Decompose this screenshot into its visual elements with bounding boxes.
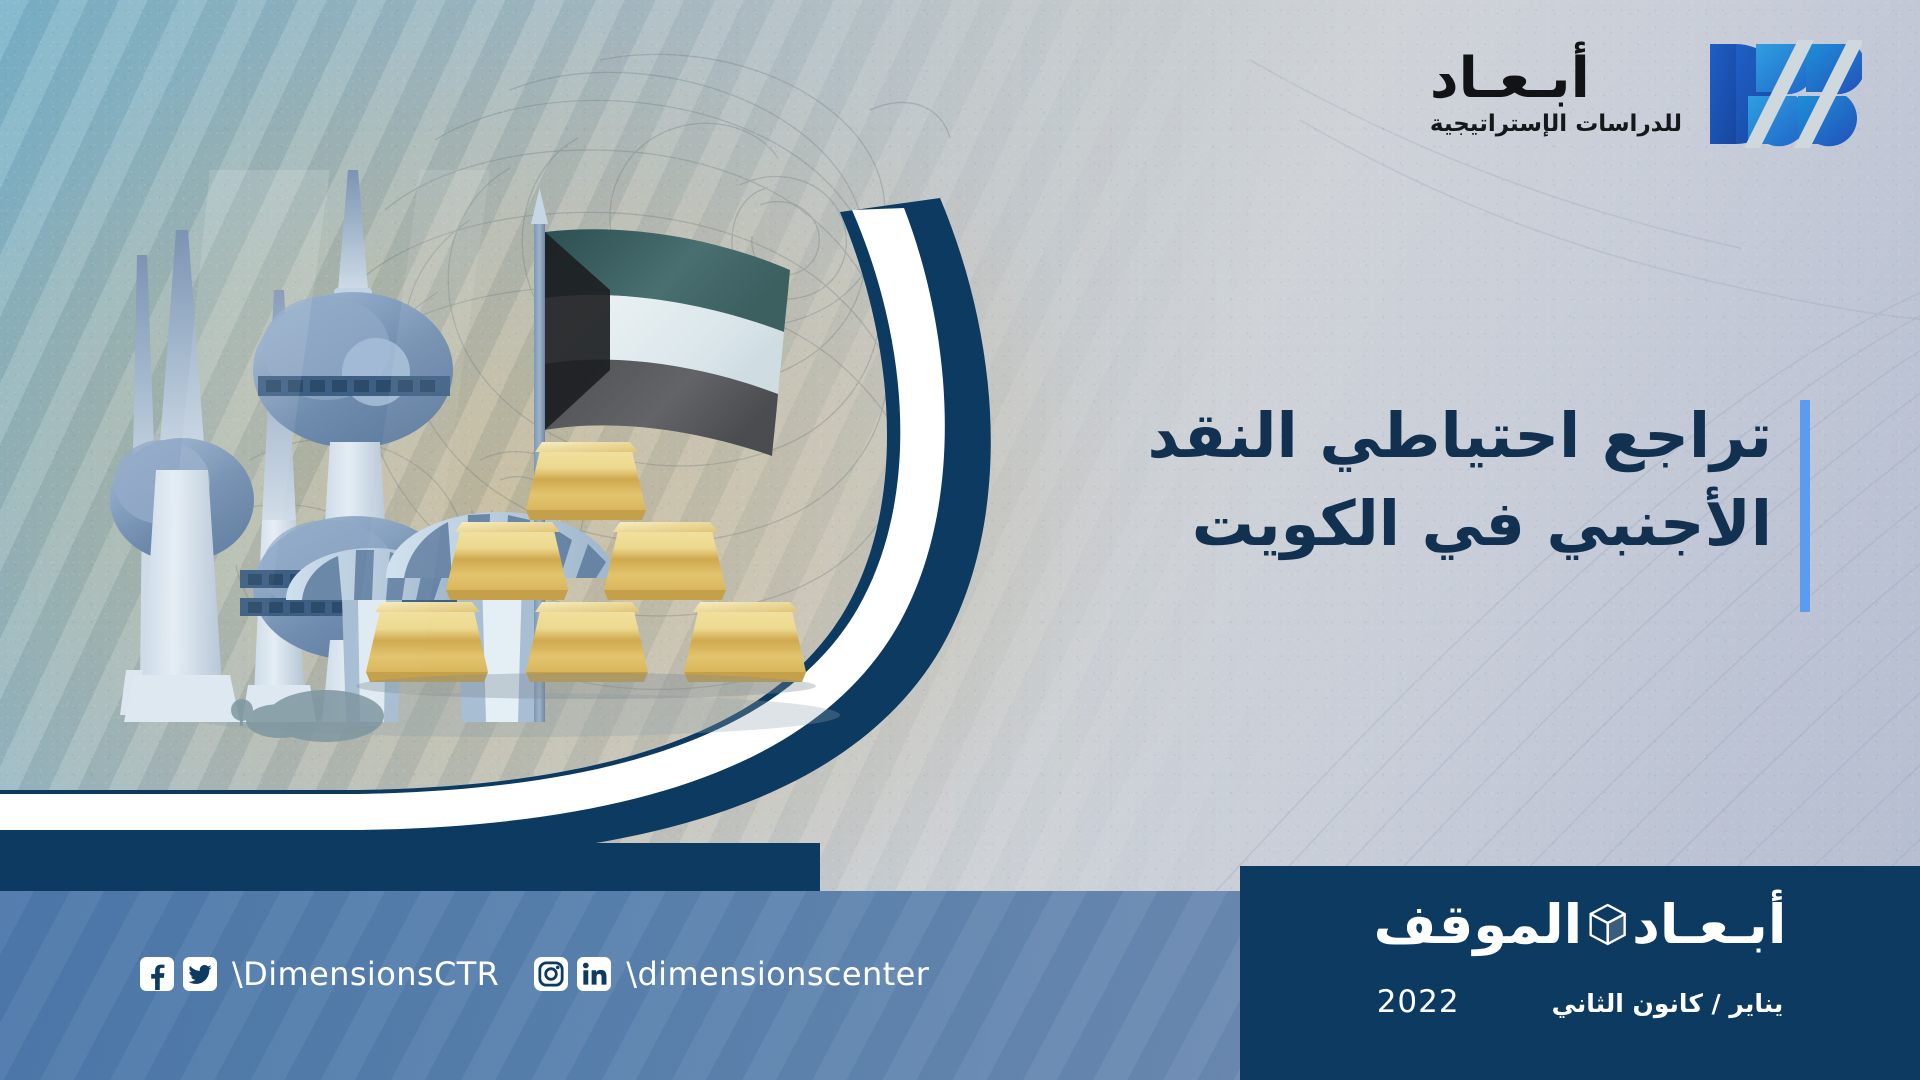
handle-dimensionsctr[interactable]: \DimensionsCTR bbox=[232, 955, 499, 993]
dss-monogram-icon bbox=[1702, 38, 1862, 150]
gold-bar bbox=[446, 522, 568, 600]
brand-logo-wordmark: أبـعـاد للدراسات الإستراتيجية bbox=[1430, 51, 1682, 137]
headline-accent-bar bbox=[1800, 400, 1810, 612]
badge-wordmark: أبـعـاد الموقف bbox=[1374, 898, 1787, 952]
headline: تراجع احتياطي النقد الأجنبي في الكويت bbox=[1052, 392, 1772, 568]
brand-subtitle: للدراسات الإستراتيجية bbox=[1430, 111, 1682, 137]
badge-year: 2022 bbox=[1377, 984, 1460, 1020]
gold-bar bbox=[526, 442, 646, 520]
badge-meta: 2022 يناير / كانون الثاني bbox=[1240, 984, 1920, 1020]
brand-name: أبـعـاد bbox=[1430, 51, 1590, 107]
headline-line-2: الأجنبي في الكويت bbox=[1052, 480, 1772, 568]
social-group-dimensionsctr: \DimensionsCTR bbox=[140, 955, 525, 993]
social-group-dimensionscenter: \dimensionscenter bbox=[534, 955, 955, 993]
brand-logo[interactable]: أبـعـاد للدراسات الإستراتيجية bbox=[1430, 38, 1862, 150]
badge-word-abaad: أبـعـاد bbox=[1632, 898, 1786, 952]
gold-bar bbox=[684, 602, 806, 682]
facebook-icon[interactable] bbox=[140, 957, 174, 991]
instagram-icon[interactable] bbox=[534, 957, 568, 991]
twitter-icon[interactable] bbox=[183, 957, 217, 991]
badge-word-almawqif: الموقف bbox=[1374, 898, 1583, 952]
bottom-navy-band bbox=[0, 843, 820, 891]
cube-icon bbox=[1580, 898, 1634, 952]
gold-bar bbox=[604, 522, 726, 600]
kuwait-illustration bbox=[90, 170, 970, 750]
poster-canvas: \DimensionsCTR \dimensionscenter أبـعـاد… bbox=[0, 0, 1920, 1080]
social-links-bar: \DimensionsCTR \dimensionscenter bbox=[140, 955, 955, 993]
gold-bar bbox=[526, 602, 648, 682]
issue-badge: أبـعـاد الموقف 2022 يناير / كانون الثاني bbox=[1240, 866, 1920, 1080]
handle-dimensionscenter[interactable]: \dimensionscenter bbox=[626, 955, 929, 993]
headline-line-1: تراجع احتياطي النقد bbox=[1052, 392, 1772, 480]
badge-month: يناير / كانون الثاني bbox=[1552, 989, 1784, 1018]
linkedin-icon[interactable] bbox=[577, 957, 611, 991]
